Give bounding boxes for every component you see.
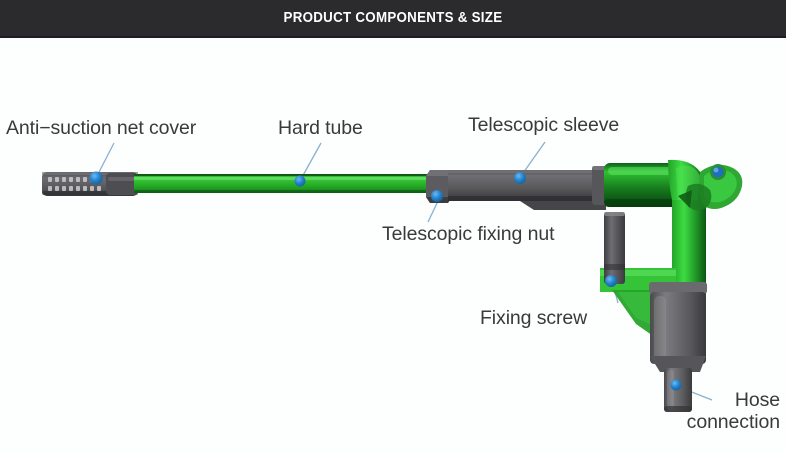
leader-hard-tube <box>301 143 321 179</box>
product-diagram-page: PRODUCT COMPONENTS & SIZE <box>0 0 786 454</box>
label-anti-suction-net-cover: Anti−suction net cover <box>6 118 196 140</box>
part-fixing-screw <box>604 212 625 284</box>
part-telescopic-sleeve <box>448 166 608 210</box>
marker-net-cover <box>90 172 103 185</box>
marker-hose-connection <box>671 380 682 391</box>
label-telescopic-sleeve: Telescopic sleeve <box>468 115 619 137</box>
marker-fixing-nut <box>431 190 443 202</box>
label-telescopic-fixing-nut: Telescopic fixing nut <box>382 224 554 246</box>
label-hose-connection: Hose connection <box>648 390 780 434</box>
label-hard-tube: Hard tube <box>278 118 363 140</box>
marker-hard-tube <box>295 176 306 187</box>
leader-net-cover <box>97 143 114 176</box>
marker-fixing-screw <box>605 275 617 287</box>
marker-telescopic-sleeve <box>514 172 526 184</box>
part-hard-tube <box>134 174 434 193</box>
label-fixing-screw: Fixing screw <box>480 308 587 330</box>
